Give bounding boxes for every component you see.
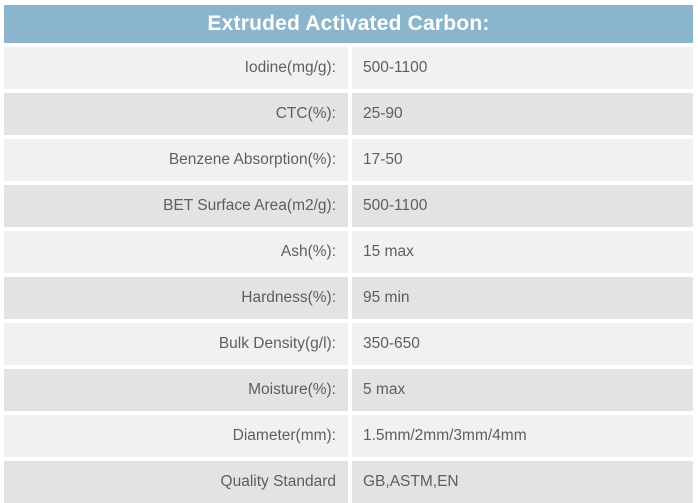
table-row: Ash(%): 15 max [4,231,693,273]
table-row: Benzene Absorption(%): 17-50 [4,139,693,181]
table-row: Moisture(%): 5 max [4,369,693,411]
spec-label: Moisture(%): [4,369,348,411]
specification-sheet: Extruded Activated Carbon: Iodine(mg/g):… [0,0,698,466]
spec-label: CTC(%): [4,93,348,135]
table-row: Hardness(%): 95 min [4,277,693,319]
spec-value: 1.5mm/2mm/3mm/4mm [352,415,693,457]
table-row: Bulk Density(g/l): 350-650 [4,323,693,365]
spec-value: 350-650 [352,323,693,365]
spec-label: Bulk Density(g/l): [4,323,348,365]
spec-value: 95 min [352,277,693,319]
spec-label: Hardness(%): [4,277,348,319]
spec-value: 500-1100 [352,47,693,89]
spec-label: Benzene Absorption(%): [4,139,348,181]
spec-value: 5 max [352,369,693,411]
spec-label: Ash(%): [4,231,348,273]
table-row: Quality Standard GB,ASTM,EN [4,461,693,503]
spec-value: GB,ASTM,EN [352,461,693,503]
table-row: BET Surface Area(m2/g): 500-1100 [4,185,693,227]
spec-label: Quality Standard [4,461,348,503]
spec-label: BET Surface Area(m2/g): [4,185,348,227]
table-row: Diameter(mm): 1.5mm/2mm/3mm/4mm [4,415,693,457]
table-row: Iodine(mg/g): 500-1100 [4,47,693,89]
spec-value: 15 max [352,231,693,273]
spec-sheet-title: Extruded Activated Carbon: [4,5,693,43]
spec-label: Diameter(mm): [4,415,348,457]
table-row: CTC(%): 25-90 [4,93,693,135]
spec-value: 500-1100 [352,185,693,227]
specification-table: Iodine(mg/g): 500-1100 CTC(%): 25-90 Ben… [4,47,693,503]
spec-value: 17-50 [352,139,693,181]
spec-label: Iodine(mg/g): [4,47,348,89]
spec-value: 25-90 [352,93,693,135]
